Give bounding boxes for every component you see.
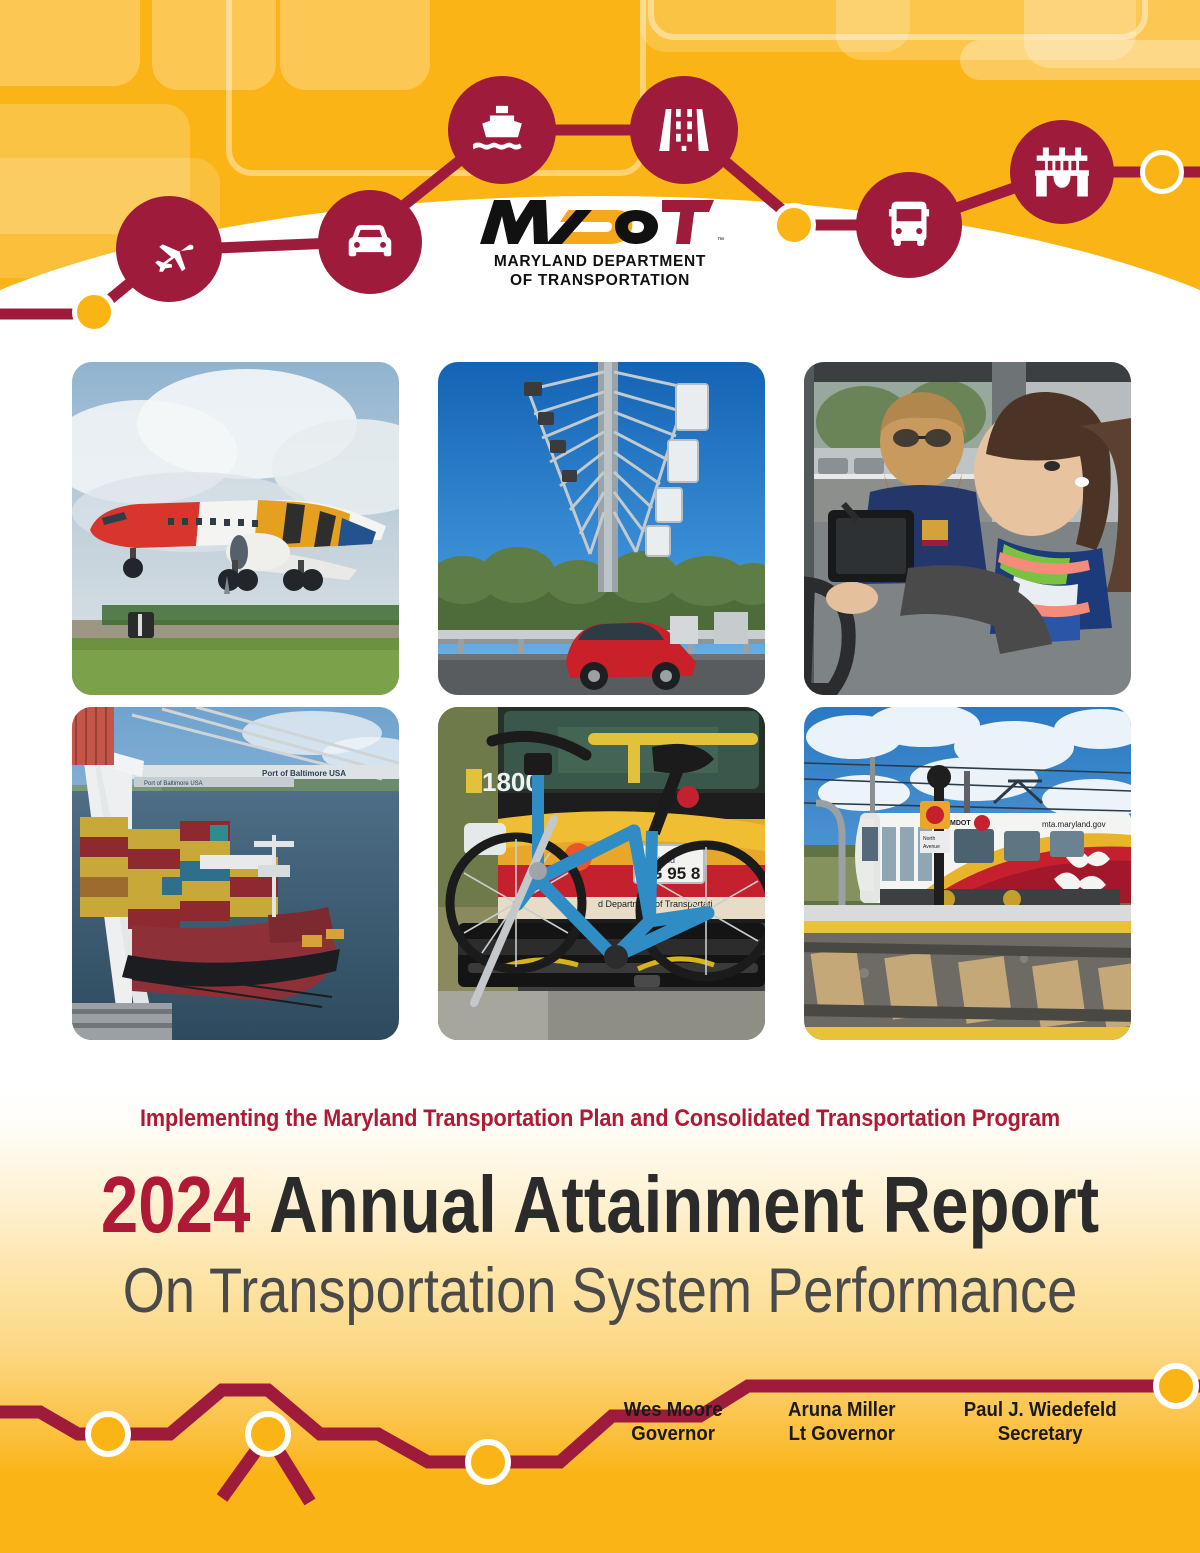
svg-text:North: North — [923, 836, 935, 842]
mdot-logo-line1: MARYLAND DEPARTMENT — [476, 253, 724, 271]
title-main-text: Annual Attainment Report — [269, 1160, 1099, 1249]
signatory-secretary: Paul J. Wiedefeld Secretary — [964, 1398, 1117, 1447]
report-kicker: Implementing the Maryland Transportation… — [60, 1105, 1140, 1133]
photo-grid: Port of Baltimore USA Port of Baltimore … — [72, 362, 1130, 1040]
signatory-name: Wes Moore — [624, 1398, 723, 1422]
signatory-governor: Wes Moore Governor — [624, 1398, 723, 1447]
title-year: 2024 — [101, 1160, 250, 1249]
page-subtitle: On Transportation System Performance — [84, 1255, 1116, 1327]
route-dot-right — [1140, 150, 1184, 194]
bus-icon — [856, 172, 962, 278]
svg-text:Port of Baltimore USA: Port of Baltimore USA — [144, 781, 203, 787]
footer-banner — [0, 1350, 1200, 1553]
signatory-role: Governor — [624, 1422, 723, 1446]
car-icon — [318, 190, 422, 294]
route-dot-center — [772, 203, 816, 247]
photo-bike-on-bus-rack: d Department of Transportati 1800 Maryla… — [438, 707, 765, 1040]
signatory-name: Paul J. Wiedefeld — [964, 1398, 1117, 1422]
airplane-icon — [116, 196, 222, 302]
svg-text:™: ™ — [717, 237, 724, 244]
highway-icon — [630, 76, 738, 184]
page-title: 2024 Annual Attainment Report — [96, 1163, 1104, 1248]
svg-text:Avenue: Avenue — [923, 844, 940, 850]
photo-toll-gantry — [438, 362, 765, 695]
photo-mva-road-test — [804, 362, 1131, 695]
photo-aircraft-landing — [72, 362, 399, 695]
photo-light-rail-train: mta.maryland.gov MDOT North Avenue — [804, 707, 1131, 1040]
bridge-icon — [1010, 120, 1114, 224]
mdot-logo-line2: OF TRANSPORTATION — [476, 272, 724, 290]
ship-icon — [448, 76, 556, 184]
photo-port-of-baltimore: Port of Baltimore USA Port of Baltimore … — [72, 707, 399, 1040]
signatory-role: Lt Governor — [788, 1422, 895, 1446]
svg-text:Port of Baltimore USA: Port of Baltimore USA — [262, 769, 346, 778]
signatory-name: Aruna Miller — [788, 1398, 895, 1422]
footer-route-line — [0, 1350, 1200, 1553]
signatory-list: Wes Moore Governor Aruna Miller Lt Gover… — [620, 1398, 1180, 1447]
route-dot-left — [72, 290, 116, 334]
svg-text:mta.maryland.gov: mta.maryland.gov — [1042, 820, 1106, 829]
signatory-role: Secretary — [964, 1422, 1117, 1446]
report-cover-page: ™ MARYLAND DEPARTMENT OF TRANSPORTATION — [0, 0, 1200, 1553]
svg-text:MDOT: MDOT — [950, 820, 971, 827]
mdot-wordmark: ™ — [476, 196, 724, 252]
mdot-logo: ™ MARYLAND DEPARTMENT OF TRANSPORTATION — [476, 196, 724, 292]
signatory-lt-governor: Aruna Miller Lt Governor — [788, 1398, 895, 1447]
